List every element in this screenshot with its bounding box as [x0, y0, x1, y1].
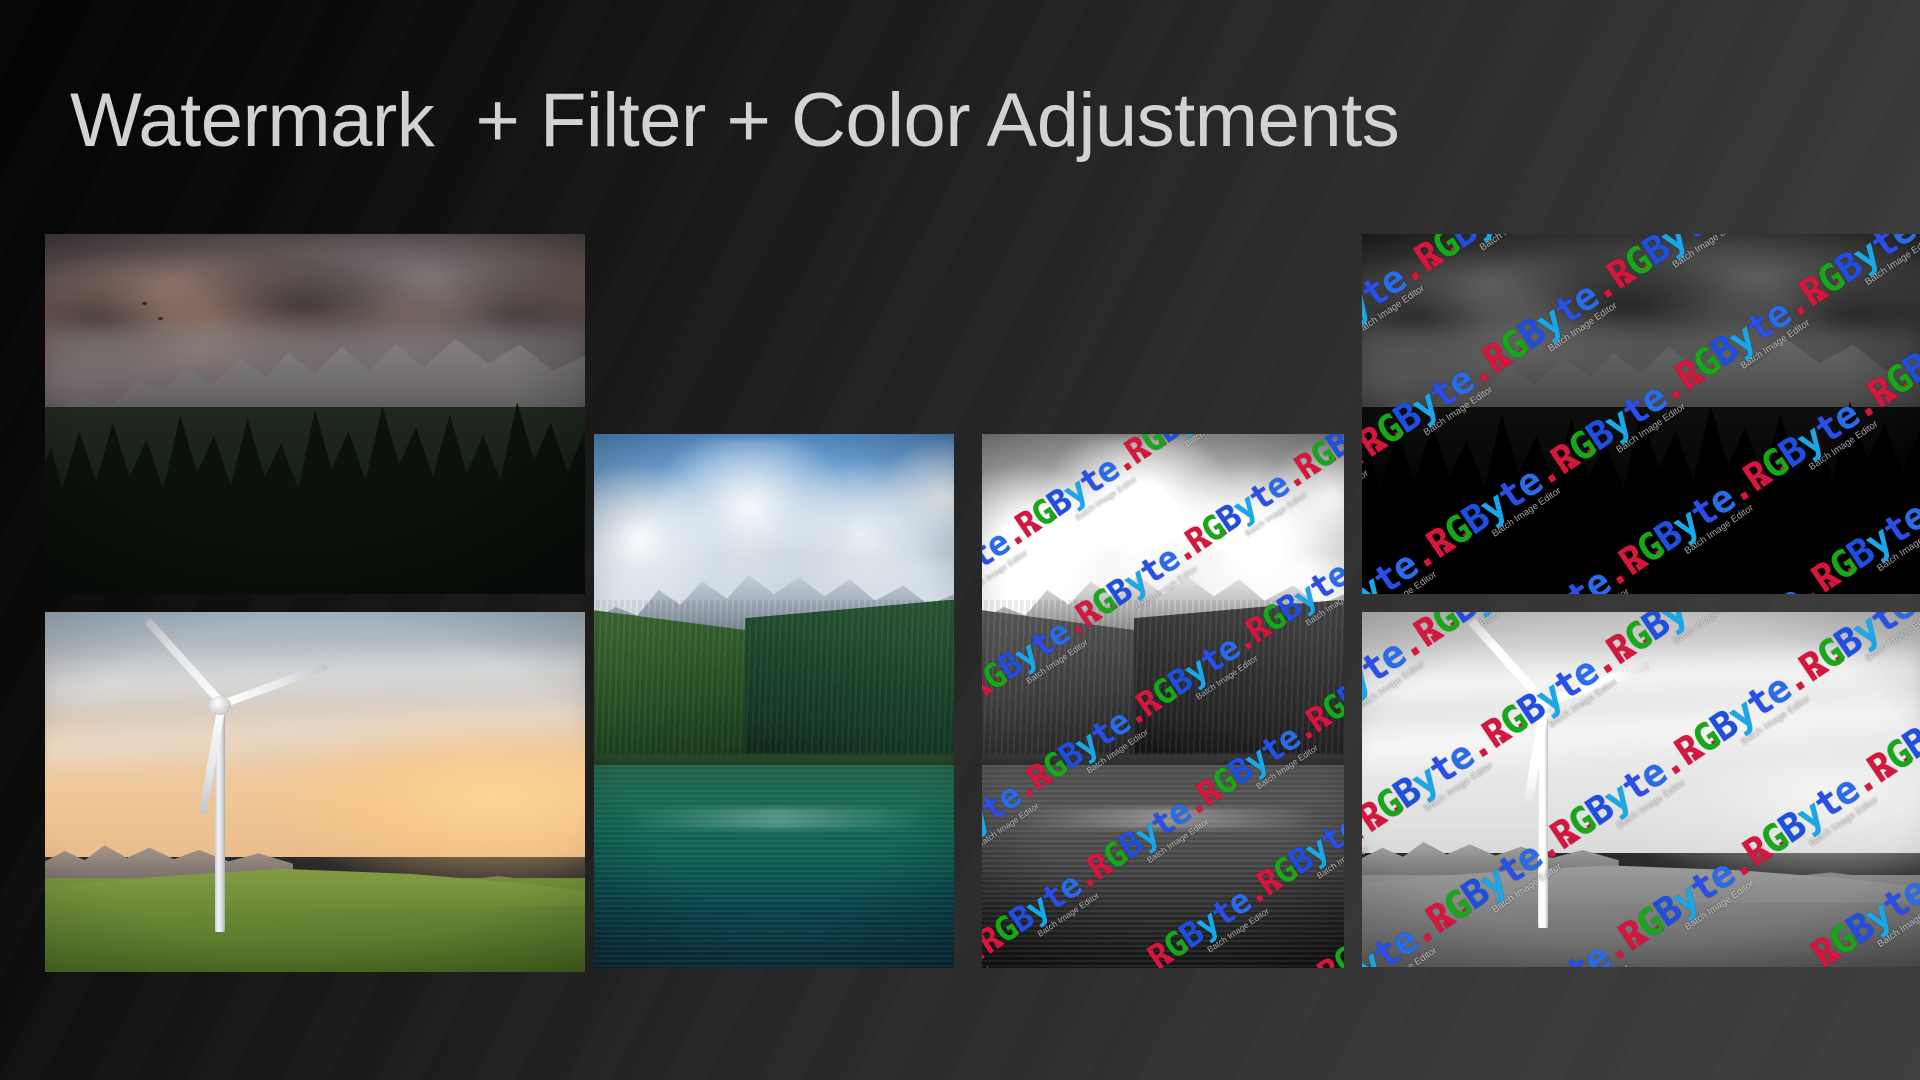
vignette [45, 234, 585, 594]
panel-processed-mountains[interactable]: RGByte...Batch Image EditorRGByte...Batc… [1362, 234, 1920, 594]
photo-windmill-original [45, 612, 585, 972]
vignette [1362, 234, 1920, 594]
vignette [594, 434, 954, 968]
photo-mountains-original [45, 234, 585, 594]
photo-mountains-processed [1362, 234, 1920, 594]
photo-lake-processed [982, 434, 1344, 968]
page-title: Watermark + Filter + Color Adjustments [70, 83, 1399, 159]
panel-original-lake[interactable] [594, 434, 954, 968]
panel-original-mountains[interactable] [45, 234, 585, 594]
vignette [1362, 612, 1920, 967]
slide-canvas: Watermark + Filter + Color Adjustments [0, 0, 1920, 1080]
photo-windmill-processed [1362, 612, 1920, 967]
vignette [45, 612, 585, 972]
panel-processed-lake[interactable]: RGByte...Batch Image EditorRGByte...Batc… [982, 434, 1344, 968]
panel-original-windmill[interactable] [45, 612, 585, 972]
panel-processed-windmill[interactable]: RGByte...Batch Image EditorRGByte...Batc… [1362, 612, 1920, 967]
vignette [982, 434, 1344, 968]
photo-lake-original [594, 434, 954, 968]
